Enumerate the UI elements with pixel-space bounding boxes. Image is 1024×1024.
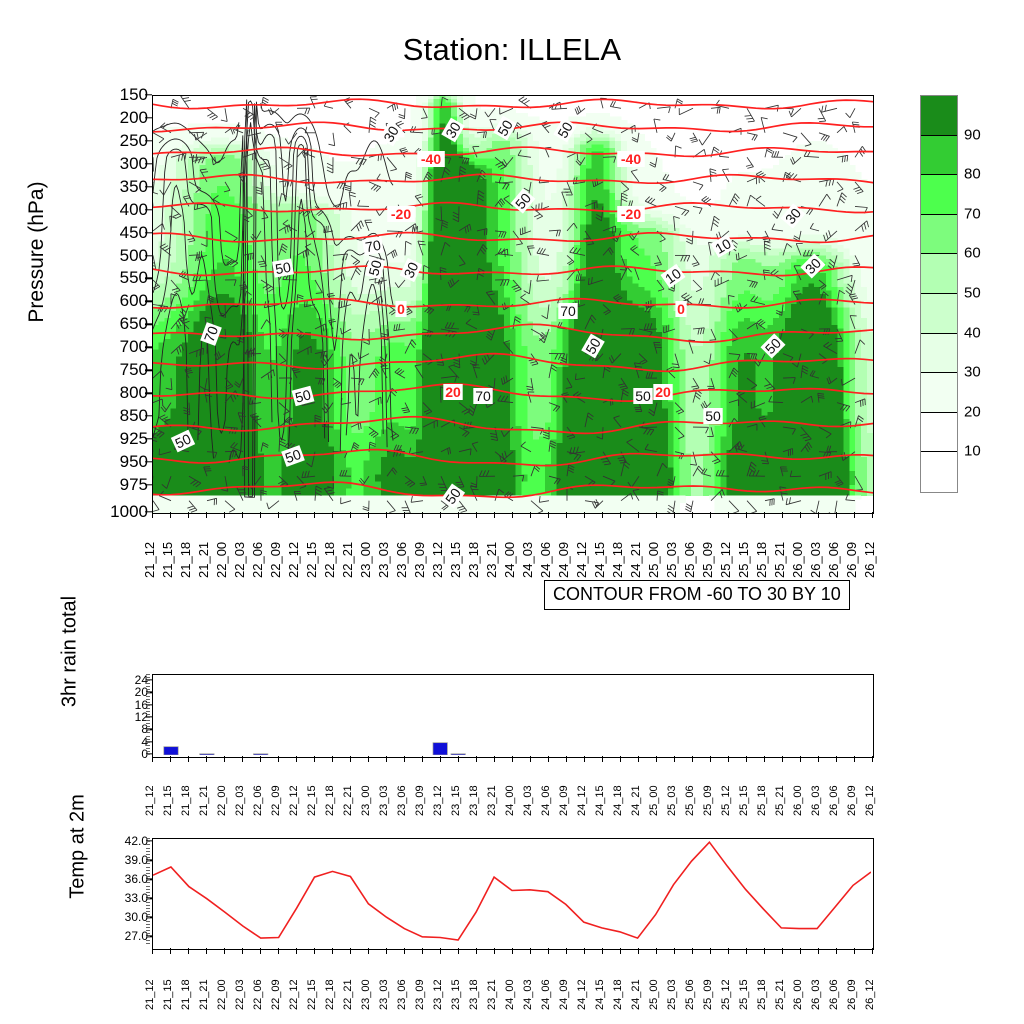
rain-y-minor-tick [146,748,150,749]
x-tick-mark [872,512,873,518]
x-tick-label: 22_12 [288,785,300,816]
x-tick-label: 22_12 [286,542,301,578]
temp-y-minor-tick [146,911,150,912]
wind-barb-tick [159,449,160,455]
x-tick-label: 26_06 [828,785,840,816]
main-y-tick: 350 [94,177,148,197]
rain-bar-chart[interactable] [152,674,874,758]
isotherm-label: -40 [617,151,645,167]
wind-barb-tick [527,246,533,247]
x-tick-label: 23_18 [468,785,480,816]
rain-bar[interactable] [451,754,465,755]
isotherm-label: -20 [387,206,415,222]
x-tick-label: 21_12 [144,979,156,1010]
wind-barb-tick [669,107,671,113]
wind-barb-tick [710,340,716,341]
main-y-tick: 950 [94,452,148,472]
temp-y-minor-tick [146,848,150,849]
main-y-tick: 1000 [94,502,148,522]
wind-barb-staff [852,122,855,133]
x-tick-label: 23_00 [360,785,372,816]
x-tick-label: 22_12 [288,979,300,1010]
x-tick-label: 26_09 [844,542,859,578]
wind-barb-staff [387,231,402,232]
wind-barb-staff [679,108,693,114]
x-tick-label: 25_00 [648,979,660,1010]
wind-barb-tick [347,101,353,103]
x-tick-label: 23_06 [394,542,409,578]
x-tick-label: 25_03 [666,785,678,816]
main-y-tick-mark [145,347,152,348]
x-tick-label: 22_15 [304,542,319,578]
temp-svg [153,839,871,947]
wind-barb-tick [398,123,404,126]
wind-barb-staff [801,133,811,145]
rain-y-minor-tick [146,696,150,697]
rain-y-minor-tick [146,677,150,678]
wind-barb-tick [846,113,850,118]
x-tick-label: 24_12 [576,785,588,816]
wind-barb-staff [369,117,370,133]
temp-y-minor-tick [146,933,150,934]
wind-barb-tick [562,192,569,193]
rh-contour-label: 50 [272,258,294,277]
main-y-tick: 250 [94,131,148,151]
temp-y-minor-tick [146,930,150,931]
x-tick-label: 26_09 [846,785,858,816]
wind-barb-tick [575,109,577,115]
temp-y-minor-tick [146,844,150,845]
x-tick-label: 22_06 [252,979,264,1010]
wind-barb-tick [762,463,768,464]
wind-barb-staff [837,127,844,133]
temp-y-axis-label: Temp at 2m [67,727,90,967]
temp-y-minor-tick [146,905,150,906]
wind-barb-tick [789,111,791,117]
wind-barb-tick [394,104,395,110]
x-tick-label: 22_15 [306,785,318,816]
rain-y-minor-tick [146,729,150,730]
x-tick-label: 25_09 [702,785,714,816]
temp-y-tick: 39.0 [96,853,148,867]
wind-barb-tick [676,146,682,148]
x-tick-label: 22_03 [234,785,246,816]
wind-barb-tick [419,244,426,245]
wind-barb-tick [791,109,793,115]
wind-barb-tick [613,101,616,107]
x-tick-label: 23_15 [448,542,463,578]
wind-barb-staff [243,108,256,116]
wind-barb-tick [853,124,859,125]
wind-barb-tick [305,108,307,114]
rain-bar[interactable] [164,747,178,755]
main-y-tick-mark [145,484,152,485]
x-tick-label: 24_18 [610,542,625,578]
main-y-axis-label: Pressure (hPa) [25,87,49,417]
wind-barb-tick [747,167,753,169]
x-tick-label: 25_21 [772,542,787,578]
rain-bar[interactable] [433,743,447,755]
rain-y-minor-tick [146,754,150,755]
x-tick-label: 26_00 [792,785,804,816]
wind-barb-tick [761,118,768,119]
main-y-tick: 150 [94,85,148,105]
rain-bar[interactable] [254,754,268,755]
main-y-tick-mark [145,392,152,393]
temp-y-tick-labels: 27.030.033.036.039.042.0 [92,838,148,948]
rain-y-minor-tick [146,751,150,752]
x-tick-label: 22_09 [270,785,282,816]
x-tick-label: 24_03 [522,785,534,816]
x-tick-label: 26_06 [828,979,840,1010]
main-y-tick-mark [145,415,152,416]
x-tick-mark [872,756,873,762]
x-tick-label: 24_12 [574,542,589,578]
main-y-tick-mark [145,301,152,302]
wind-barb-tick [699,139,702,145]
x-tick-label: 22_21 [340,542,355,578]
main-y-tick: 450 [94,223,148,243]
wind-barb-staff [324,106,333,108]
rain-y-minor-tick [146,689,150,690]
wind-barb-tick [417,226,418,232]
wind-barb-tick [399,114,405,116]
wind-barb-tick [761,461,767,462]
wind-barb-tick [339,302,340,308]
x-tick-label: 23_09 [414,785,426,816]
isotherm-label: 0 [675,301,686,317]
rain-y-minor-tick [146,732,150,733]
temp-y-minor-tick [146,936,150,937]
temp-y-minor-tick [146,892,150,893]
x-tick-label: 25_18 [756,979,768,1010]
x-tick-label: 23_21 [486,785,498,816]
temp-y-minor-tick [146,908,150,909]
rain-y-minor-tick [146,692,150,693]
temp-y-minor-tick [146,854,150,855]
wind-barb-tick [269,109,271,115]
wind-barb-tick [308,108,310,114]
wind-barb-tick [822,106,823,113]
wind-barb-tick [690,137,696,139]
wind-barb-tick [344,300,345,306]
x-tick-label: 25_06 [684,785,696,816]
rh-contour-label: 50 [633,388,652,404]
wind-barb-staff [552,108,567,109]
temp-y-tick: 33.0 [96,891,148,905]
wind-barb-tick [399,117,405,119]
wind-barb-tick [183,98,189,99]
x-tick-label: 26_06 [826,542,841,578]
rh-contour-label: 70 [362,236,384,255]
rain-y-tick: 20 [104,685,148,699]
x-tick-label: 24_09 [558,785,570,816]
temp-y-minor-tick [146,889,150,890]
x-tick-label: 22_18 [322,542,337,578]
x-tick-label: 26_09 [846,979,858,1010]
rain-bar[interactable] [200,754,214,755]
temp-y-minor-tick [146,914,150,915]
temp-y-minor-tick [146,867,150,868]
x-tick-label: 25_18 [756,785,768,816]
wind-barb-staff [693,182,703,185]
temp-y-minor-tick [146,943,150,944]
x-tick-label: 24_21 [630,785,642,816]
x-tick-label: 25_21 [774,979,786,1010]
wind-barb-staff [225,451,236,452]
wind-barb-staff [189,255,199,256]
wind-barb-staff [728,295,729,304]
wind-barb-tick [717,108,718,114]
main-y-tick-mark [145,324,152,325]
x-tick-label: 24_03 [520,542,535,578]
colorbar-labels: 908070605040302010 [920,95,1010,491]
wind-barb-tick [774,151,776,157]
rain-bars [164,743,466,755]
wind-barb-tick [370,124,376,127]
main-y-tick-mark [145,370,152,371]
x-tick-label: 24_00 [504,979,516,1010]
x-tick-label: 24_18 [612,979,624,1010]
wind-barb-tick [458,487,464,488]
wind-barb-staff [761,118,765,133]
wind-barb-staff [297,295,298,305]
x-tick-label: 23_12 [432,785,444,816]
x-tick-label: 22_18 [324,785,336,816]
sounding-time-height-plot[interactable]: -40-40-20-200020203050503050707070505050… [152,95,874,514]
wind-barb-tick [844,127,847,133]
rain-y-tick: 8 [104,722,148,736]
x-tick-label: 26_12 [862,542,877,578]
wind-barb-tick [341,301,342,307]
colorbar-tick-label: 60 [964,245,981,262]
wind-barb-staff [642,427,657,428]
wind-barb-tick [197,351,198,358]
main-y-tick-mark [145,140,152,141]
temp-y-minor-tick [146,851,150,852]
wind-barb-staff [783,378,795,379]
wind-barb-staff [225,305,226,318]
temp-y-minor-tick [146,886,150,887]
x-tick-label: 23_06 [396,979,408,1010]
wind-barb-tick [212,117,218,120]
rain-y-minor-tick [146,683,150,684]
rain-y-minor-tick [146,736,150,737]
x-tick-label: 21_18 [180,979,192,1010]
main-x-tick-labels: 21_1221_1521_1821_2122_0022_0322_0622_09… [152,516,872,578]
wind-barb-tick [324,226,325,232]
rain-y-minor-tick [146,742,150,743]
rain-x-tick-labels: 21_1221_1521_1821_2122_0022_0322_0622_09… [152,760,872,816]
main-y-tick: 300 [94,154,148,174]
wind-barb-tick [474,367,481,368]
temp-y-minor-tick [146,902,150,903]
x-tick-label: 26_12 [864,785,876,816]
wind-barb-tick [610,101,613,107]
temp-y-minor-tick [146,895,150,896]
wind-barb-tick [825,105,826,112]
temp-y-minor-tick [146,921,150,922]
wind-barb-tick [396,121,402,124]
x-tick-label: 22_03 [234,979,246,1010]
x-tick-label: 23_21 [486,979,498,1010]
x-tick-label: 24_18 [612,785,624,816]
wind-barb-tick [692,141,698,143]
wind-barb-tick [418,241,425,242]
wind-barb-tick [699,185,703,190]
wind-barb-tick [852,122,858,123]
x-tick-label: 23_15 [450,785,462,816]
wind-barb-tick [203,348,204,355]
wind-barb-staff [405,108,406,118]
wind-barb-tick [577,107,579,113]
wind-barb-staff [654,119,657,133]
x-tick-label: 22_00 [216,785,228,816]
wind-barb-tick [221,120,227,121]
wind-barb-tick [200,349,201,356]
x-tick-label: 25_12 [720,979,732,1010]
wind-barb-tick [719,107,720,113]
rain-y-minor-tick [146,702,150,703]
contour-legend-box: CONTOUR FROM -60 TO 30 BY 10 [544,580,850,610]
wind-barb-staff [765,148,767,157]
main-y-tick-mark [145,163,152,164]
main-y-tick-mark [145,94,152,95]
wind-barb-staff [675,99,677,108]
main-y-tick: 800 [94,383,148,403]
rain-y-tick: 12 [104,710,148,724]
wind-barb-tick [457,485,463,486]
main-y-tick: 600 [94,291,148,311]
rain-y-minor-tick [146,726,150,727]
isotherm-label: -40 [417,151,445,167]
x-tick-label: 22_15 [306,979,318,1010]
x-tick-label: 21_18 [180,785,192,816]
x-tick-label: 25_15 [736,542,751,578]
wind-barb-tick [524,100,530,104]
rain-y-minor-tick [146,717,150,718]
x-tick-label: 25_09 [700,542,715,578]
temp-y-minor-tick [146,870,150,871]
page-title: Station: ILLELA [0,32,1024,68]
x-tick-label: 25_06 [684,979,696,1010]
wind-barb-staff [369,108,379,113]
x-tick-label: 23_03 [376,542,391,578]
rain-y-minor-tick [146,714,150,715]
wind-barb-tick [505,250,506,257]
x-tick-label: 23_18 [468,979,480,1010]
x-tick-label: 21_18 [178,542,193,578]
x-tick-label: 21_21 [198,979,210,1010]
main-y-tick-mark [145,186,152,187]
wind-barb-tick [378,155,379,161]
x-tick-label: 26_00 [790,542,805,578]
x-tick-label: 21_12 [142,542,157,578]
main-y-tick: 925 [94,429,148,449]
main-y-tick: 750 [94,360,148,380]
colorbar-tick-label: 80 [964,166,981,183]
wind-barb-staff [610,107,621,109]
main-y-tick-mark [145,438,152,439]
rain-y-tick: 24 [104,673,148,687]
x-tick-label: 26_00 [792,979,804,1010]
main-y-tick-mark [145,117,152,118]
isotherm-label: 20 [653,384,672,400]
wind-barb-tick [328,226,329,232]
temperature-line-chart[interactable] [152,838,874,950]
temp-y-minor-tick [146,860,150,861]
wind-barb-staff [644,329,657,330]
x-tick-label: 22_09 [268,542,283,578]
wind-barb-staff [719,156,729,157]
x-tick-label: 22_21 [342,785,354,816]
wind-barb-tick [722,169,728,170]
x-tick-mark [872,948,873,954]
wind-barb-staff [315,378,325,379]
main-y-tick: 850 [94,406,148,426]
temp-y-minor-tick [146,917,150,918]
x-tick-label: 24_09 [556,542,571,578]
wind-barb-staff [225,108,227,121]
x-tick-label: 22_21 [342,979,354,1010]
rain-y-minor-tick [146,680,150,681]
x-tick-label: 23_00 [360,979,372,1010]
wind-barb-tick [162,399,163,405]
main-y-tick: 550 [94,268,148,288]
rain-y-minor-tick [146,674,150,675]
temperature-line [153,842,871,940]
rain-y-minor-tick [146,705,150,706]
wind-barb-tick [473,364,480,365]
wind-barb-tick [519,97,525,101]
temp-x-tick-labels: 21_1221_1521_1821_2122_0022_0322_0622_09… [152,952,872,1010]
x-tick-label: 24_15 [592,542,607,578]
x-tick-label: 25_15 [738,785,750,816]
x-tick-label: 22_00 [216,979,228,1010]
x-tick-label: 23_06 [396,785,408,816]
wind-barb-tick [528,248,534,249]
main-y-tick: 650 [94,314,148,334]
x-tick-label: 24_15 [594,979,606,1010]
temp-y-minor-tick [146,841,150,842]
wind-barb-tick [710,172,716,174]
wind-barb-staff [822,108,837,112]
main-y-tick-labels: 1502002503003504004505005506006507007508… [88,95,148,512]
wind-barb-staff [747,108,755,121]
isotherm-label: 0 [395,301,406,317]
main-y-tick-mark [145,278,152,279]
temp-y-minor-tick [146,927,150,928]
x-tick-label: 21_15 [162,979,174,1010]
rain-y-tick-labels: 04812162024 [100,674,148,756]
x-tick-label: 22_06 [252,785,264,816]
wind-barb-tick [704,149,705,155]
x-tick-label: 21_21 [198,785,210,816]
x-tick-label: 23_12 [432,979,444,1010]
rain-y-minor-tick [146,723,150,724]
colorbar-tick-label: 10 [964,443,981,460]
sounding-svg: -40-40-20-200020203050503050707070505050… [153,96,873,513]
wind-barb-staff [747,133,757,135]
x-tick-label: 25_12 [718,542,733,578]
temp-y-minor-tick [146,924,150,925]
wind-barb-staff [711,107,720,108]
wind-barb-tick [772,151,774,157]
colorbar-tick-label: 70 [964,205,981,222]
wind-barb-tick [253,253,254,259]
temp-y-minor-tick [146,838,150,839]
temp-y-minor-tick [146,882,150,883]
